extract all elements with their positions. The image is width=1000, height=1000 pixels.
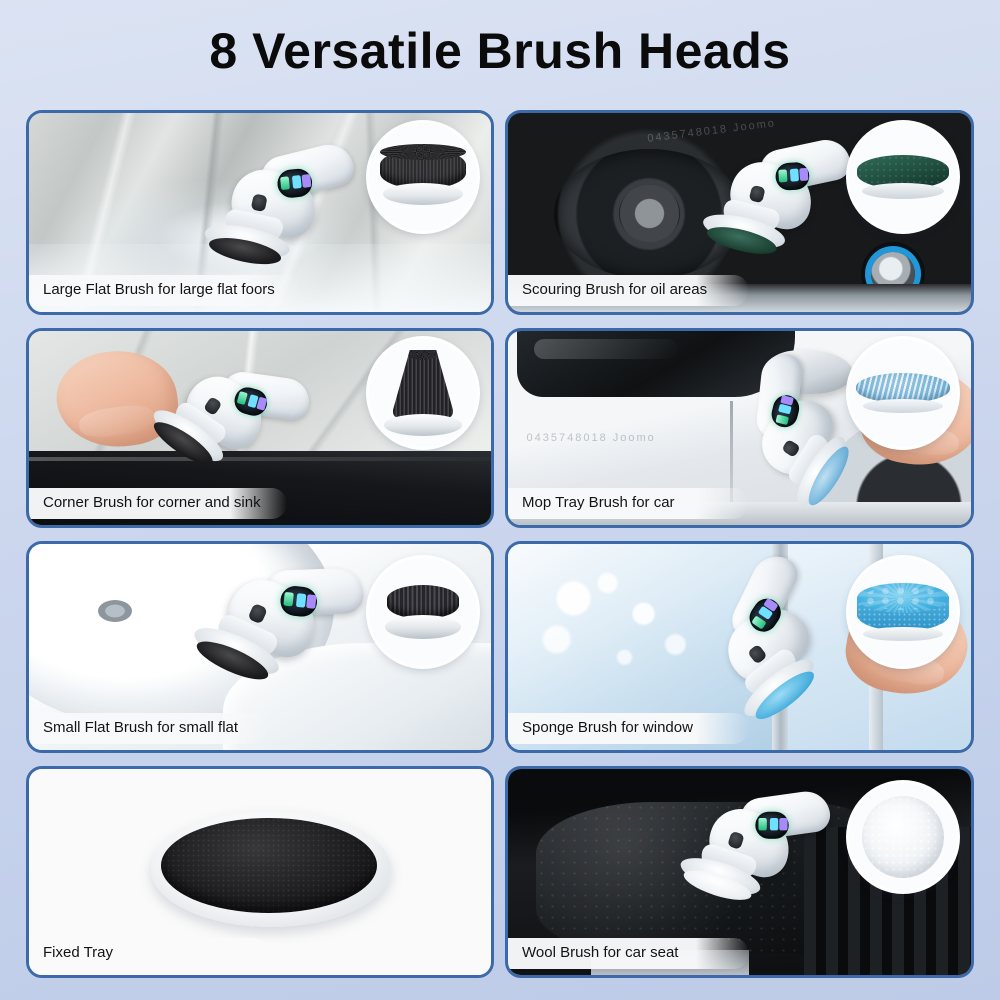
inset-small-flat-brush-head (369, 558, 477, 666)
chenille-mop-pad-icon (856, 373, 950, 413)
caption-corner-brush: Corner Brush for corner and sink (29, 488, 287, 519)
inset-wool-pad (849, 783, 957, 891)
card-wool-brush[interactable]: Wool Brush for car seat (505, 766, 974, 978)
caption-mop-tray-brush: Mop Tray Brush for car (508, 488, 749, 519)
card-large-flat-brush[interactable]: Large Flat Brush for large flat foors (26, 110, 494, 315)
inset-scouring-pad (849, 123, 957, 231)
inset-large-flat-brush-head (369, 123, 477, 231)
card-sponge-brush[interactable]: Sponge Brush for window (505, 541, 974, 753)
caption-large-flat-brush: Large Flat Brush for large flat foors (29, 275, 301, 306)
brush-head-grid: Large Flat Brush for large flat foors 04… (26, 110, 974, 978)
card-corner-brush[interactable]: Corner Brush for corner and sink (26, 328, 494, 528)
green-scouring-pad-icon (857, 155, 949, 199)
car-window (517, 331, 795, 397)
page-title: 8 Versatile Brush Heads (0, 22, 1000, 80)
device-led-display-icon (755, 812, 788, 839)
inset-corner-brush-head (369, 339, 477, 447)
inset-sponge-pad (849, 558, 957, 666)
watermark-text: 0435748018 Joomo (527, 432, 656, 444)
fixed-tray-velcro-disc-icon (151, 811, 391, 927)
small-flat-brush-head-icon (385, 585, 461, 639)
card-mop-tray-brush[interactable]: 0435748018 Joomo Mop Tray Brush for car (505, 328, 974, 528)
card-fixed-tray[interactable]: Fixed Tray (26, 766, 494, 978)
corner-cone-brush-head-icon (384, 350, 462, 436)
caption-scouring-brush: Scouring Brush for oil areas (508, 275, 749, 306)
inset-mop-tray-pad (849, 339, 957, 447)
caption-wool-brush: Wool Brush for car seat (508, 938, 749, 969)
caption-sponge-brush: Sponge Brush for window (508, 713, 749, 744)
white-wool-pad-icon (862, 796, 944, 878)
caption-small-flat-brush: Small Flat Brush for small flat (29, 713, 269, 744)
caption-fixed-tray: Fixed Tray (29, 938, 269, 969)
blue-honeycomb-sponge-icon (857, 583, 949, 641)
card-scouring-brush[interactable]: 0435748018 Joomo Scouring Brush for oil … (505, 110, 974, 315)
large-flat-brush-head-icon (380, 149, 466, 205)
sink-drain (98, 600, 132, 622)
card-small-flat-brush[interactable]: Small Flat Brush for small flat (26, 541, 494, 753)
